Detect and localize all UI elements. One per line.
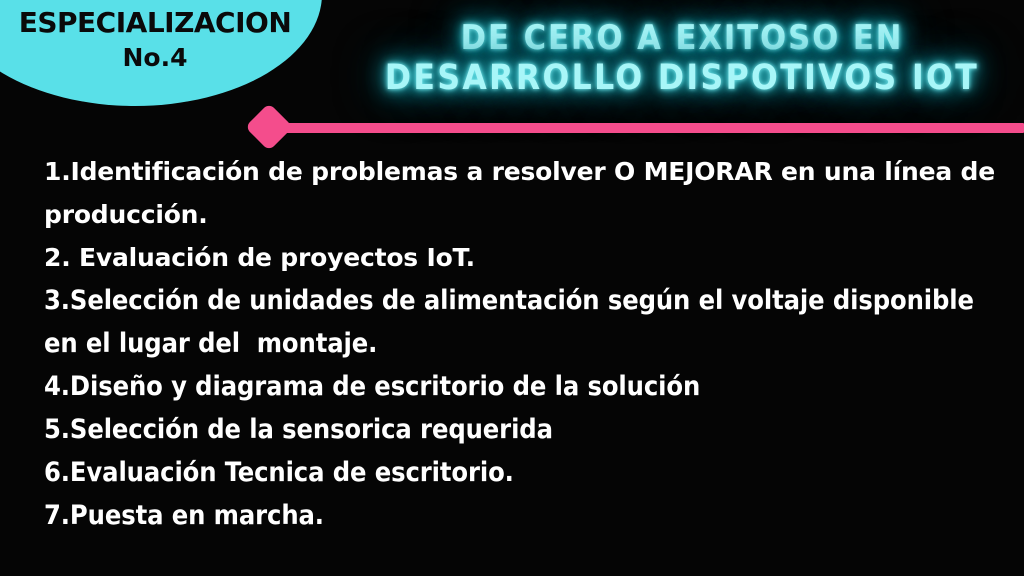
list-item: 2. Evaluación de proyectos IoT.	[44, 236, 1004, 279]
slide-canvas: ESPECIALIZACION No.4 DE CERO A EXITOSO E…	[0, 0, 1024, 576]
page-title-line-1: DE CERO A EXITOSO EN	[352, 18, 1012, 58]
badge-subtitle: No.4	[0, 42, 310, 74]
agenda-list: 1.Identificación de problemas a resolver…	[44, 150, 1004, 537]
page-title-line-2: DESARROLLO DISPOTIVOS IOT	[352, 58, 1012, 98]
list-item: 4.Diseño y diagrama de escritorio de la …	[44, 365, 1004, 408]
list-item: 3.Selección de unidades de alimentación …	[44, 279, 1004, 365]
badge-title: ESPECIALIZACION	[0, 6, 310, 40]
page-title: DE CERO A EXITOSO EN DESARROLLO DISPOTIV…	[352, 18, 1012, 98]
list-item: 5.Selección de la sensorica requerida	[44, 408, 1004, 451]
pink-diamond-marker	[245, 103, 293, 151]
pink-divider-line	[268, 123, 1024, 133]
list-item: 7.Puesta en marcha.	[44, 494, 1004, 537]
badge-text-group: ESPECIALIZACION No.4	[0, 6, 310, 74]
list-item: 6.Evaluación Tecnica de escritorio.	[44, 451, 1004, 494]
list-item: 1.Identificación de problemas a resolver…	[44, 150, 1004, 236]
